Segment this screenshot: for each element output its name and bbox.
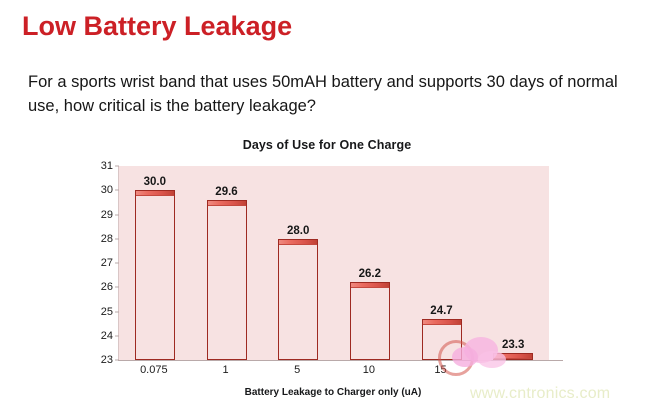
bar: 26.2: [350, 282, 390, 360]
slide-body-text: For a sports wrist band that uses 50mAH …: [28, 70, 628, 118]
chart-title: Days of Use for One Charge: [92, 138, 562, 152]
bar-value-label: 28.0: [287, 225, 309, 237]
y-axis-tick-label: 23: [101, 354, 113, 366]
bar: 24.7: [422, 319, 462, 360]
y-axis-tick-mark: [115, 238, 119, 239]
bar-chart: Days of Use for One Charge Days of Use 3…: [92, 138, 562, 410]
y-axis-tick-label: 24: [101, 330, 113, 342]
bar: 23.3: [493, 353, 533, 360]
bar-value-label: 26.2: [359, 268, 381, 280]
y-axis-tick-mark: [115, 190, 119, 191]
y-axis-tick-label: 31: [101, 160, 113, 172]
x-axis-tick-label: 5: [294, 364, 300, 376]
y-axis-tick-label: 28: [101, 233, 113, 245]
bar: 29.6: [207, 200, 247, 360]
watermark: www.cntronics.com: [470, 385, 610, 403]
bar: 30.0: [135, 190, 175, 360]
y-axis-tick-mark: [115, 263, 119, 264]
x-axis-tick-label: 10: [363, 364, 375, 376]
x-axis-tick-label: 15: [434, 364, 446, 376]
y-axis-tick-label: 29: [101, 209, 113, 221]
x-axis-tick-label: 0.075: [140, 364, 168, 376]
bar-value-label: 29.6: [215, 186, 237, 198]
plot-area: 31302928272625242330.029.628.026.224.723…: [118, 166, 549, 360]
bar: 28.0: [278, 239, 318, 360]
bar-value-label: 23.3: [502, 339, 524, 351]
y-axis-tick-label: 30: [101, 184, 113, 196]
y-axis-tick-label: 26: [101, 281, 113, 293]
y-axis-tick-mark: [115, 335, 119, 336]
bar-value-label: 30.0: [144, 176, 166, 188]
y-axis-tick-mark: [115, 166, 119, 167]
y-axis-tick-label: 27: [101, 257, 113, 269]
y-axis-tick-mark: [115, 287, 119, 288]
page-title: Low Battery Leakage: [22, 11, 292, 42]
x-axis-line: [118, 360, 563, 361]
y-axis-tick-mark: [115, 214, 119, 215]
y-axis-tick-mark: [115, 311, 119, 312]
x-axis-tick-label: 1: [222, 364, 228, 376]
bar-value-label: 24.7: [430, 305, 452, 317]
y-axis-tick-label: 25: [101, 306, 113, 318]
